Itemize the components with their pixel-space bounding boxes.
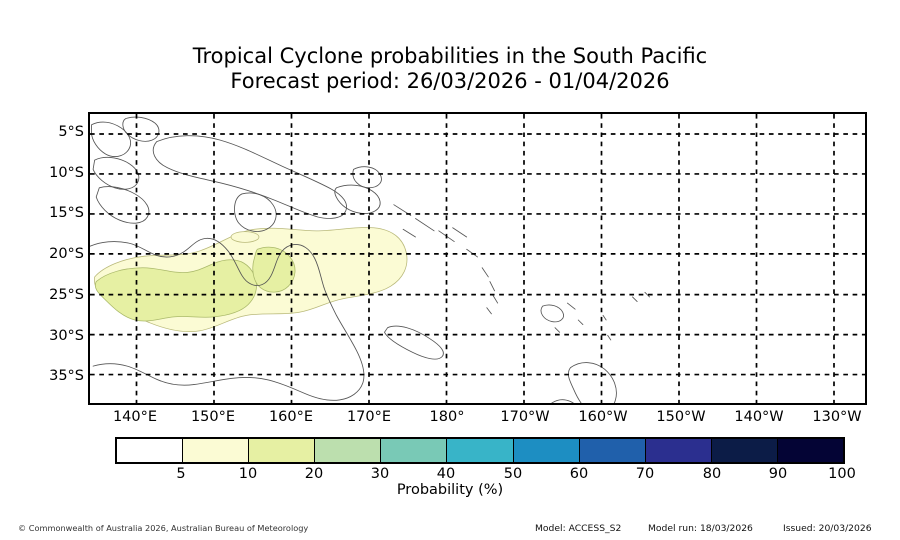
model-run-label: Model run: 18/03/2026 xyxy=(648,523,753,534)
lon-tick-170W: 170°W xyxy=(500,409,549,425)
colorbar-tick-5: 5 xyxy=(176,466,185,482)
map-panel xyxy=(88,112,867,405)
lon-tick-160W: 160°W xyxy=(578,409,627,425)
lat-tick-25S: 25°S xyxy=(0,287,84,303)
colorbar-segment-60-70 xyxy=(580,439,646,462)
colorbar-tick-20: 20 xyxy=(305,466,323,482)
colorbar-tick-60: 60 xyxy=(570,466,588,482)
lat-tick-20S: 20°S xyxy=(0,246,84,262)
lon-tick-140W: 140°W xyxy=(734,409,783,425)
title-line-1: Tropical Cyclone probabilities in the So… xyxy=(0,44,900,69)
lat-tick-15S: 15°S xyxy=(0,205,84,221)
colorbar-segment-10-20 xyxy=(249,439,315,462)
copyright-notice: © Commonwealth of Australia 2026, Austra… xyxy=(18,523,308,533)
map-canvas xyxy=(90,114,865,403)
lat-tick-35S: 35°S xyxy=(0,368,84,384)
lat-tick-5S: 5°S xyxy=(0,124,84,140)
lon-tick-150E: 150°E xyxy=(191,409,235,425)
lon-tick-180: 180° xyxy=(430,409,465,425)
colorbar-tick-30: 30 xyxy=(371,466,389,482)
colorbar-segment-5-10 xyxy=(183,439,249,462)
footer-metadata: Model: ACCESS_S2 Model run: 18/03/2026 I… xyxy=(520,523,890,537)
colorbar-tick-70: 70 xyxy=(636,466,654,482)
model-label: Model: ACCESS_S2 xyxy=(535,523,621,534)
colorbar-segment-0-5 xyxy=(117,439,183,462)
lon-tick-130W: 130°W xyxy=(812,409,861,425)
lon-tick-170E: 170°E xyxy=(347,409,391,425)
colorbar-tick-40: 40 xyxy=(437,466,455,482)
chart-title: Tropical Cyclone probabilities in the So… xyxy=(0,44,900,94)
colorbar-tick-90: 90 xyxy=(769,466,787,482)
latitude-axis: 5°S 10°S 15°S 20°S 25°S 30°S 35°S xyxy=(0,112,84,405)
colorbar-segment-90-100 xyxy=(778,439,843,462)
colorbar-segment-30-40 xyxy=(381,439,447,462)
contour-region-isolated-5-10 xyxy=(231,232,259,243)
probability-colorbar xyxy=(115,437,845,464)
lon-tick-150W: 150°W xyxy=(656,409,705,425)
colorbar-tick-50: 50 xyxy=(504,466,522,482)
colorbar-tick-10: 10 xyxy=(239,466,257,482)
colorbar-segment-50-60 xyxy=(514,439,580,462)
lon-tick-160E: 160°E xyxy=(269,409,313,425)
colorbar-segment-80-90 xyxy=(712,439,778,462)
colorbar-axis-title: Probability (%) xyxy=(0,482,900,498)
colorbar-segment-70-80 xyxy=(646,439,712,462)
lat-tick-10S: 10°S xyxy=(0,165,84,181)
longitude-axis: 140°E 150°E 160°E 170°E 180° 170°W 160°W… xyxy=(88,409,867,431)
issued-label: Issued: 20/03/2026 xyxy=(783,523,872,534)
lat-tick-30S: 30°S xyxy=(0,328,84,344)
probability-contours xyxy=(94,227,407,331)
colorbar-segment-40-50 xyxy=(447,439,513,462)
colorbar-tick-100: 100 xyxy=(828,466,856,482)
title-line-2: Forecast period: 26/03/2026 - 01/04/2026 xyxy=(0,69,900,94)
colorbar-tick-80: 80 xyxy=(703,466,721,482)
lon-tick-140E: 140°E xyxy=(113,409,157,425)
colorbar-segment-20-30 xyxy=(315,439,381,462)
